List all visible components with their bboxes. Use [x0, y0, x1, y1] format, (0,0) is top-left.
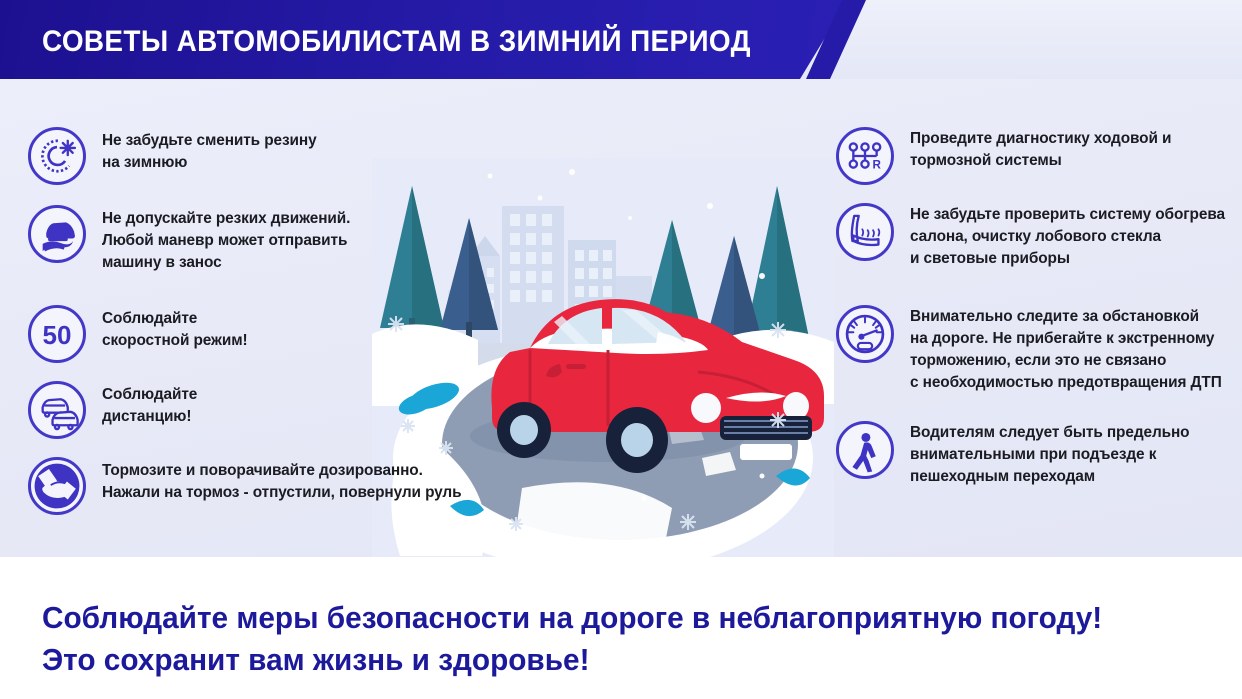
tip-text: Не допускайте резких движений. Любой ман… — [102, 205, 350, 274]
tip-item-pedestrian-crossing: Водителям следует быть предельно внимате… — [836, 421, 1189, 488]
tip-item-heating-check: Не забудьте проверить систему обогрева с… — [836, 203, 1225, 270]
speed-limit-50-icon: 50 — [28, 305, 86, 363]
tip-text: Соблюдайте скоростной режим! — [102, 305, 248, 352]
tip-item-diagnostics: R Проведите диагностику ходовой и тормоз… — [836, 127, 1171, 185]
tip-item-winter-tires: Не забудьте сменить резину на зимнюю — [28, 127, 317, 185]
tip-text: Водителям следует быть предельно внимате… — [910, 421, 1189, 488]
infographic-poster: СОВЕТЫ АВТОМОБИЛИСТАМ В ЗИМНИЙ ПЕРИОД — [0, 0, 1242, 699]
tip-text: Соблюдайте дистанцию! — [102, 381, 197, 428]
tip-item-avoid-sharp-moves: Не допускайте резких движений. Любой ман… — [28, 205, 350, 274]
tip-item-speed-limit: 50 Соблюдайте скоростной режим! — [28, 305, 248, 363]
winter-tire-snowflake-icon — [28, 127, 86, 185]
tip-item-gentle-braking: Тормозите и поворачивайте дозированно. Н… — [28, 457, 461, 515]
footer-message: Соблюдайте меры безопасности на дороге в… — [42, 597, 1102, 681]
two-cars-distance-icon — [28, 381, 86, 439]
speed-limit-value: 50 — [43, 320, 72, 350]
heated-seat-icon — [836, 203, 894, 261]
tip-text: Не забудьте сменить резину на зимнюю — [102, 127, 317, 174]
tip-text: Проведите диагностику ходовой и тормозно… — [910, 127, 1171, 172]
reverse-gear-label: R — [872, 159, 881, 172]
hand-on-brake-icon — [28, 457, 86, 515]
footer-banner: Соблюдайте меры безопасности на дороге в… — [0, 557, 1242, 699]
tip-text: Не забудьте проверить систему обогрева с… — [910, 203, 1225, 270]
tip-text: Внимательно следите за обстановкой на до… — [910, 305, 1222, 394]
car-skid-icon — [28, 205, 86, 263]
speedometer-icon — [836, 305, 894, 363]
gear-shift-pattern-icon: R — [836, 127, 894, 185]
tip-item-keep-distance: Соблюдайте дистанцию! — [28, 381, 197, 439]
pedestrian-crossing-icon — [836, 421, 894, 479]
page-title: СОВЕТЫ АВТОМОБИЛИСТАМ В ЗИМНИЙ ПЕРИОД — [42, 25, 751, 59]
body-area: Не забудьте сменить резину на зимнюю Не … — [0, 79, 1242, 557]
tip-text: Тормозите и поворачивайте дозированно. Н… — [102, 457, 461, 504]
tip-item-watch-road: Внимательно следите за обстановкой на до… — [836, 305, 1222, 394]
